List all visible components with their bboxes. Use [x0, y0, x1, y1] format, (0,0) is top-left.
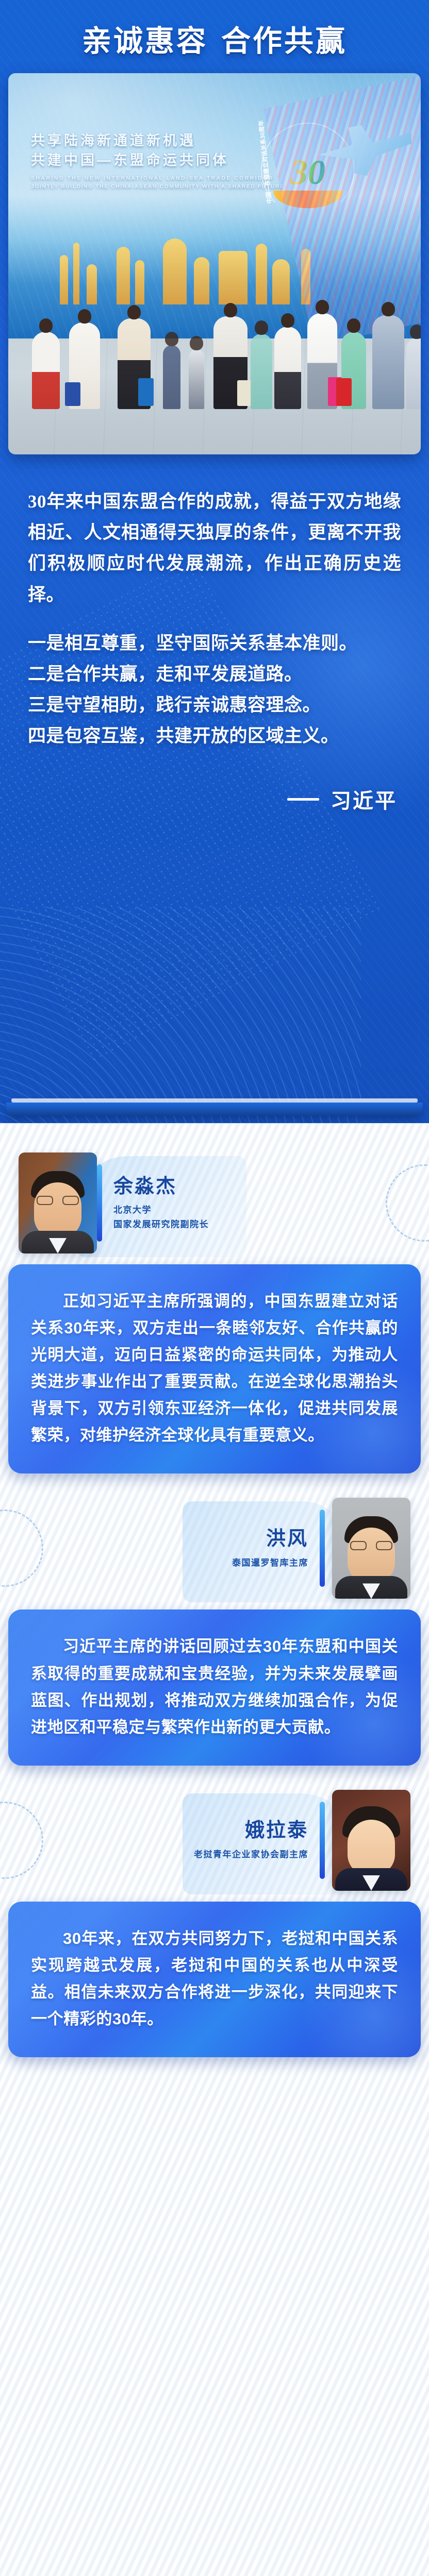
expert-name: 娥拉泰	[194, 1819, 308, 1843]
person-head	[78, 309, 91, 324]
person-head	[316, 300, 329, 314]
attribution-dash-icon	[287, 798, 319, 801]
expert-comment-bubble: 正如习近平主席所强调的，中国东盟建立对话关系30年来，双方走出一条睦邻友好、合作…	[8, 1264, 421, 1473]
expert-card: 余淼杰 北京大学 国家发展研究院副院长 正如习近平主席所强调的，中国东盟建立对话…	[0, 1147, 429, 1473]
person-head	[255, 320, 268, 335]
expert-name: 余淼杰	[113, 1175, 209, 1199]
person-head	[190, 336, 203, 350]
poster-page: 亲诚惠容合作共赢	[0, 0, 429, 2576]
expert-identity: 娥拉泰 老挝青年企业家协会副主席	[183, 1819, 320, 1861]
event-photo: 共享陆海新通道新机遇 共建中国—东盟命运共同体 SHARING THE NEW …	[8, 73, 421, 454]
backdrop-slogan-cn-2: 共建中国—东盟命运共同体	[31, 150, 284, 170]
expert-card: 洪风 泰国暹罗智库主席 习近平主席的讲话回顾过去30年东盟和中国关系取得的重要成…	[0, 1492, 429, 1765]
quote-attribution: 习近平	[0, 784, 397, 814]
expert-comment-text: 正如习近平主席所强调的，中国东盟建立对话关系30年来，双方走出一条睦邻友好、合作…	[31, 1288, 398, 1449]
quote-point: 三是守望相助，践行亲诚惠容理念。	[28, 690, 401, 721]
avatar-face	[348, 1528, 395, 1583]
expert-title-line-1: 老挝青年企业家协会副主席	[194, 1848, 308, 1861]
dashed-arc-icon	[0, 1510, 43, 1587]
crowd-of-visitors	[8, 275, 421, 409]
expert-title-line-1: 泰国暹罗智库主席	[232, 1556, 308, 1570]
expert-comment-bubble: 习近平主席的讲话回顾过去30年东盟和中国关系取得的重要成就和宝贵经验，并为未来发…	[8, 1609, 421, 1765]
page-title: 亲诚惠容合作共赢	[0, 18, 429, 60]
expert-identity: 余淼杰 北京大学 国家发展研究院副院长	[102, 1175, 220, 1231]
person	[251, 334, 272, 409]
person-head	[127, 305, 141, 319]
person-head	[382, 302, 395, 316]
quote-point: 四是包容互鉴，共建开放的区域主义。	[28, 721, 401, 752]
backdrop-slogan: 共享陆海新通道新机遇 共建中国—东盟命运共同体 SHARING THE NEW …	[31, 131, 284, 191]
expert-title-line-2: 国家发展研究院副院长	[113, 1218, 209, 1231]
avatar-face	[348, 1820, 395, 1875]
expert-header: 余淼杰 北京大学 国家发展研究院副院长	[0, 1147, 429, 1259]
shopping-bag	[336, 378, 352, 406]
person	[406, 338, 421, 409]
quote-point: 一是相互尊重，坚守国际关系基本准则。	[28, 628, 401, 659]
quote-block: 30年来中国东盟合作的成就，得益于双方地缘相近、人文相通得天独厚的条件，更离不开…	[0, 454, 429, 752]
person-head	[39, 318, 53, 333]
person	[118, 318, 151, 409]
hero-wave-texture	[0, 907, 361, 1123]
headline-band: 亲诚惠容合作共赢	[0, 0, 429, 73]
person	[372, 315, 404, 409]
avatar	[332, 1498, 410, 1599]
glasses-icon	[350, 1541, 392, 1551]
brochure	[138, 378, 154, 406]
avatar	[332, 1790, 410, 1891]
backdrop-slogan-en-1: SHARING THE NEW INTERNATIONAL LAND-SEA T…	[31, 174, 284, 182]
person-head	[347, 318, 360, 333]
accent-bar	[97, 1164, 102, 1242]
expert-comment-text: 30年来，在双方共同努力下，老挝和中国关系实现跨越式发展，老挝和中国的关系也从中…	[31, 1925, 398, 2032]
person	[274, 327, 301, 409]
expert-header: 娥拉泰 老挝青年企业家协会副主席	[0, 1784, 429, 1896]
person	[213, 316, 247, 409]
avatar-face	[34, 1182, 81, 1238]
person	[189, 349, 204, 409]
headline-part-1: 亲诚惠容	[82, 25, 208, 58]
person-head	[410, 325, 421, 339]
person	[69, 323, 100, 409]
person-head	[224, 303, 237, 317]
attribution-name: 习近平	[331, 789, 397, 812]
hero-poster: 亲诚惠容合作共赢	[0, 0, 429, 1123]
tote-bag	[65, 382, 80, 406]
person-head	[165, 332, 178, 346]
backdrop-slogan-cn-1: 共享陆海新通道新机遇	[31, 131, 284, 150]
person	[341, 332, 366, 409]
quote-point: 二是合作共赢，走和平发展道路。	[28, 659, 401, 690]
expert-name: 洪风	[232, 1528, 308, 1551]
expert-comment-text: 习近平主席的讲话回顾过去30年东盟和中国关系取得的重要成就和宝贵经验，并为未来发…	[31, 1633, 398, 1740]
person	[32, 332, 60, 409]
headline-part-2: 合作共赢	[221, 25, 347, 58]
glasses-icon	[37, 1196, 79, 1206]
accent-bar	[320, 1802, 325, 1879]
person	[307, 313, 337, 409]
accent-bar	[320, 1510, 325, 1587]
quote-paragraph: 30年来中国东盟合作的成就，得益于双方地缘相近、人文相通得天独厚的条件，更离不开…	[28, 486, 401, 611]
expert-title-line-1: 北京大学	[113, 1204, 209, 1217]
quote-points-list: 一是相互尊重，坚守国际关系基本准则。 二是合作共赢，走和平发展道路。 三是守望相…	[28, 628, 401, 752]
expert-commentary-section: 余淼杰 北京大学 国家发展研究院副院长 正如习近平主席所强调的，中国东盟建立对话…	[0, 1123, 429, 2112]
dashed-arc-icon	[0, 1802, 43, 1879]
dashed-arc-icon	[386, 1164, 429, 1242]
expert-comment-bubble: 30年来，在双方共同努力下，老挝和中国关系实现跨越式发展，老挝和中国的关系也从中…	[8, 1902, 421, 2057]
expert-card: 娥拉泰 老挝青年企业家协会副主席 30年来，在双方共同努力下，老挝和中国关系实现…	[0, 1784, 429, 2057]
backdrop-slogan-en-2: JOINTLY BUILDING THE CHINA-ASEAN COMMUNI…	[31, 182, 284, 191]
expert-identity: 洪风 泰国暹罗智库主席	[221, 1528, 320, 1569]
avatar	[19, 1153, 97, 1253]
hero-base-plate	[6, 1103, 423, 1116]
expert-header: 洪风 泰国暹罗智库主席	[0, 1492, 429, 1604]
person-head	[281, 313, 294, 328]
person	[163, 345, 180, 409]
